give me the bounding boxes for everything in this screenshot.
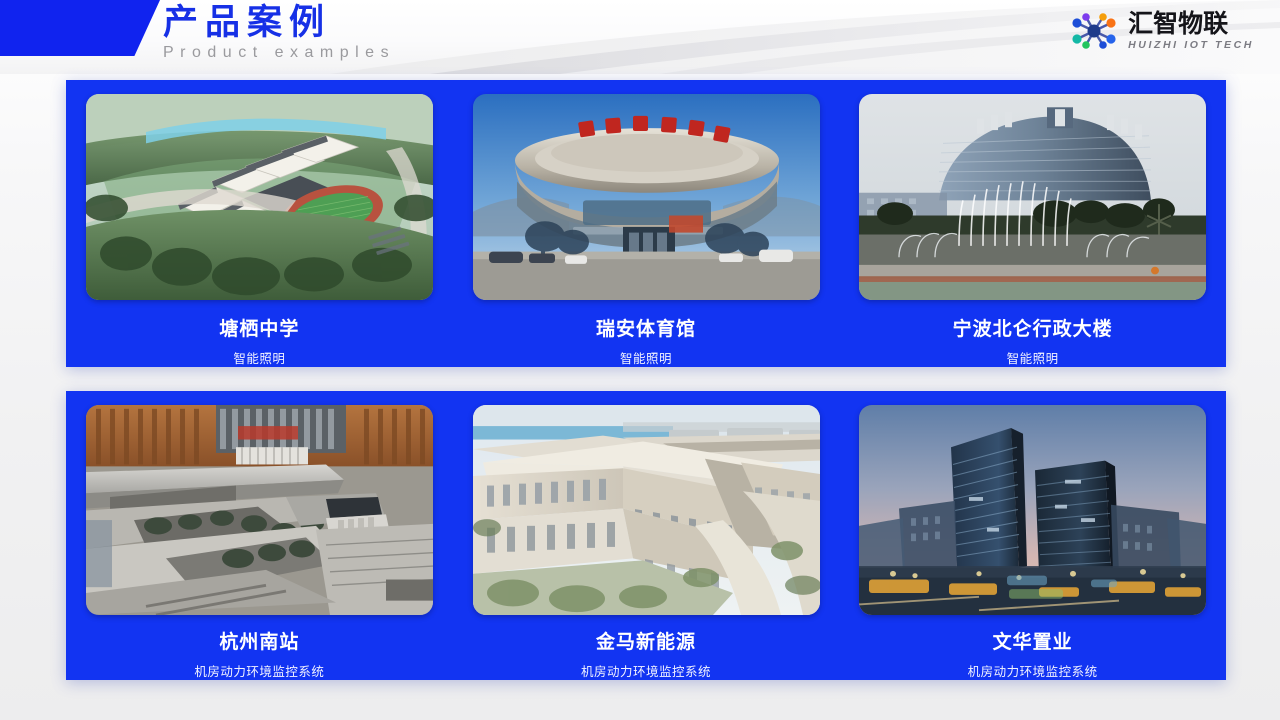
case-card-ningbo-beilun-admin-building[interactable]: 宁波北仑行政大楼 智能照明 <box>839 80 1226 367</box>
case-title: 瑞安体育馆 <box>596 314 696 341</box>
case-card-tangqi-middle-school[interactable]: 塘栖中学 智能照明 <box>66 80 453 367</box>
case-card-wenhua-real-estate[interactable]: 文华置业 机房动力环境监控系统 <box>839 391 1226 680</box>
logo-tagline: HUIZHI IOT TECH <box>1128 40 1254 51</box>
page-subtitle: Product examples <box>163 43 395 63</box>
case-title: 杭州南站 <box>219 627 299 654</box>
case-panel-row-2: 杭州南站 机房动力环境监控系统 <box>66 391 1226 680</box>
header-accent-tab <box>0 0 160 56</box>
case-title: 塘栖中学 <box>219 314 299 341</box>
case-card-jinma-new-energy[interactable]: 金马新能源 机房动力环境监控系统 <box>453 391 840 680</box>
twin-towers-dusk-photo <box>859 405 1206 615</box>
network-molecule-icon <box>1067 11 1121 51</box>
case-subtitle: 机房动力环境监控系统 <box>968 661 1098 680</box>
school-campus-aerial-photo <box>86 94 433 300</box>
slide-canvas: 产品案例 Product examples <box>0 0 1280 720</box>
case-card-ruian-gymnasium[interactable]: 瑞安体育馆 智能照明 <box>453 80 840 367</box>
case-card-hangzhou-south-station[interactable]: 杭州南站 机房动力环境监控系统 <box>66 391 453 680</box>
case-subtitle: 智能照明 <box>1007 348 1059 367</box>
header-title-block: 产品案例 Product examples <box>163 2 395 70</box>
industrial-plant-aerial-photo <box>473 405 820 615</box>
page-title: 产品案例 <box>163 2 395 44</box>
railway-station-interior-photo <box>86 405 433 615</box>
case-title: 宁波北仑行政大楼 <box>953 314 1113 341</box>
case-subtitle: 智能照明 <box>233 348 285 367</box>
sports-arena-photo <box>473 94 820 300</box>
logo-text-block: 汇智物联 HUIZHI IOT TECH <box>1128 11 1254 51</box>
case-panel-row-1: 塘栖中学 智能照明 <box>66 80 1226 367</box>
case-title: 金马新能源 <box>596 627 696 654</box>
case-subtitle: 智能照明 <box>620 348 672 367</box>
slide-header: 产品案例 Product examples <box>0 0 1280 74</box>
government-building-fountain-photo <box>859 94 1206 300</box>
case-subtitle: 机房动力环境监控系统 <box>581 661 711 680</box>
logo-company-name: 汇智物联 <box>1128 11 1254 36</box>
case-subtitle: 机房动力环境监控系统 <box>194 661 324 680</box>
case-title: 文华置业 <box>993 627 1073 654</box>
company-logo: 汇智物联 HUIZHI IOT TECH <box>1067 11 1254 51</box>
